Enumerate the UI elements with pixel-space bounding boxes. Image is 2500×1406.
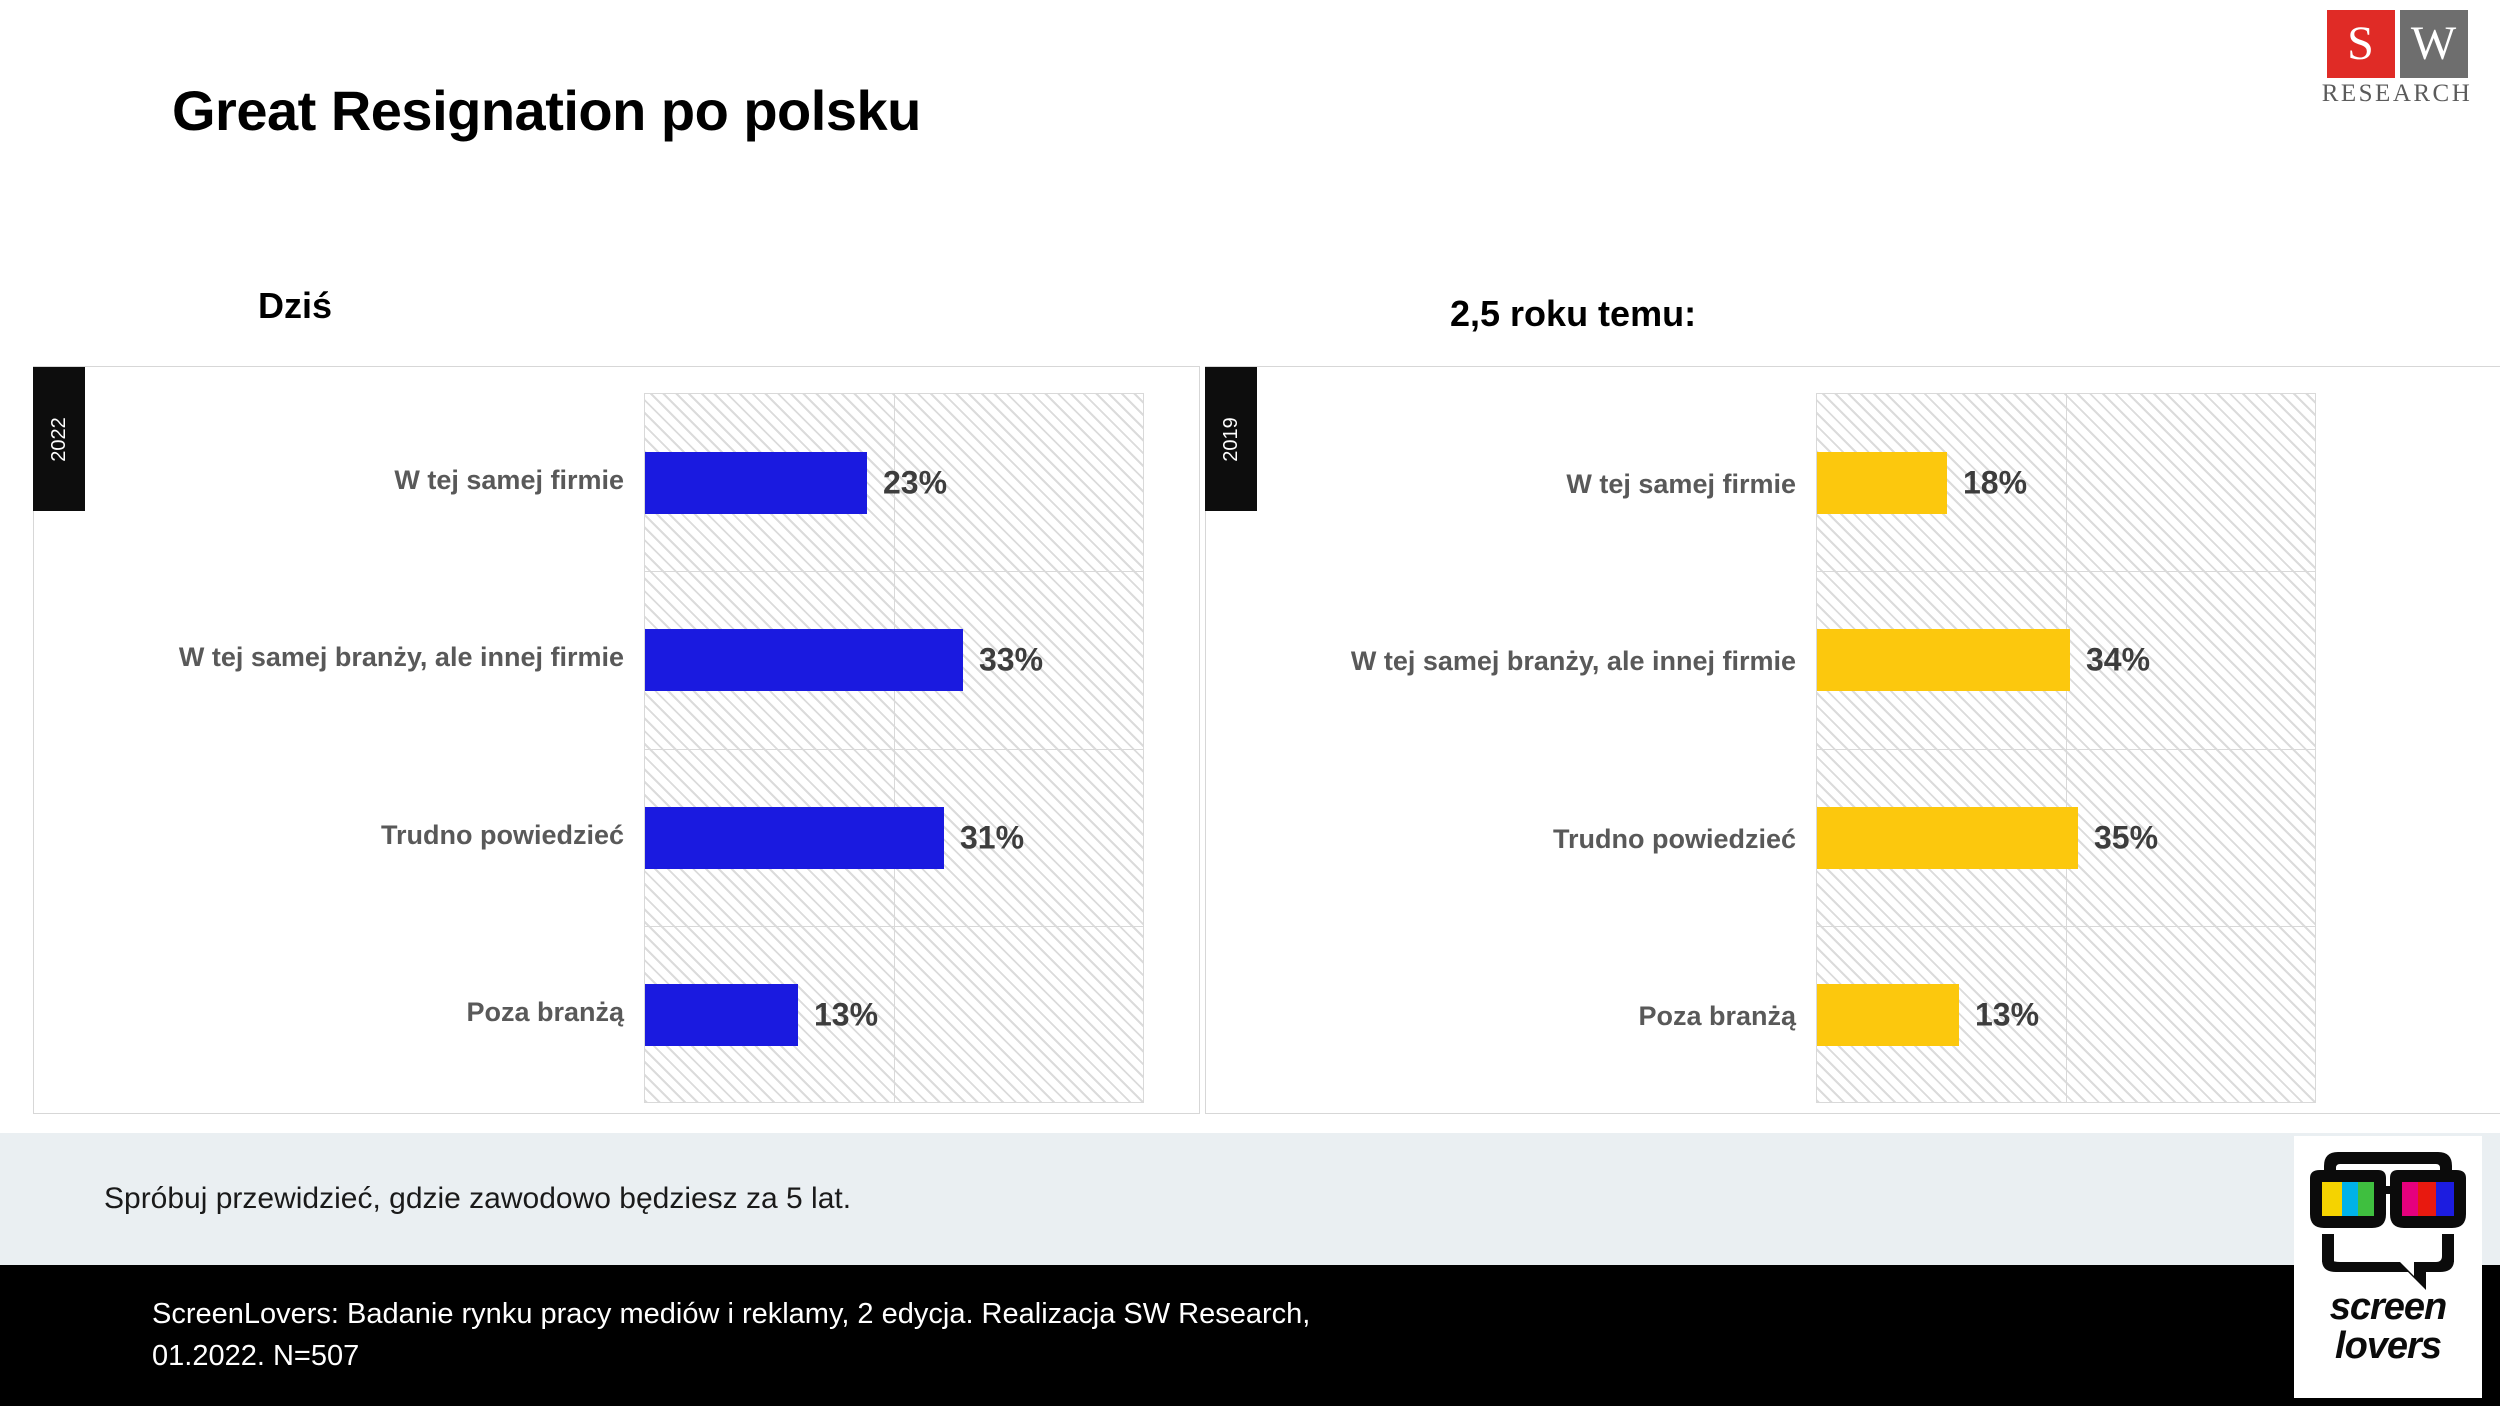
sw-logo-letter-s: S xyxy=(2327,10,2395,78)
year-tab-2022: 2022 xyxy=(33,367,85,511)
bar-value: 13% xyxy=(814,997,878,1034)
bar-2019-0 xyxy=(1817,452,1947,514)
plot-area-2022: 23% 33% 31% 13% xyxy=(644,393,1144,1103)
category-label: Poza branżą xyxy=(1266,1001,1796,1033)
bar-2022-3 xyxy=(645,984,798,1046)
footer-source-line1: ScreenLovers: Badanie rynku pracy mediów… xyxy=(152,1293,1310,1335)
screenlovers-glasses-icon xyxy=(2300,1142,2476,1292)
chart-heading-right: 2,5 roku temu: xyxy=(1450,293,1696,335)
bar-value: 34% xyxy=(2086,642,2150,679)
bar-row: 33% xyxy=(645,572,1143,750)
screenlovers-word-line2: lovers xyxy=(2294,1327,2482,1366)
page-title: Great Resignation po polsku xyxy=(172,78,921,143)
bar-value: 35% xyxy=(2094,819,2158,856)
bar-2022-2 xyxy=(645,807,944,869)
bar-2022-1 xyxy=(645,629,963,691)
bar-row: 13% xyxy=(645,927,1143,1105)
category-label: W tej samej branży, ale innej firmie xyxy=(1266,646,1796,678)
category-label: W tej samej branży, ale innej firmie xyxy=(94,642,624,674)
bar-2019-3 xyxy=(1817,984,1959,1046)
bar-value: 31% xyxy=(960,819,1024,856)
category-label: W tej samej firmie xyxy=(94,465,624,497)
bar-row: 35% xyxy=(1817,749,2315,927)
year-tab-2019: 2019 xyxy=(1205,367,1257,511)
category-label: Trudno powiedzieć xyxy=(94,820,624,852)
bar-2019-1 xyxy=(1817,629,2070,691)
category-label: W tej samej firmie xyxy=(1266,469,1796,501)
bar-row: 23% xyxy=(645,394,1143,572)
chart-panel-2022: 2022 W tej samej firmie W tej samej bran… xyxy=(33,366,1200,1114)
category-label: Trudno powiedzieć xyxy=(1266,824,1796,856)
footer-source-line2: 01.2022. N=507 xyxy=(152,1335,1310,1377)
slide: Great Resignation po polsku S W RESEARCH… xyxy=(0,0,2500,1406)
bar-value: 23% xyxy=(883,464,947,501)
chart-panel-2019: 2019 W tej samej firmie W tej samej bran… xyxy=(1205,366,2500,1114)
sw-logo-wordmark: RESEARCH xyxy=(2306,80,2488,108)
category-label: Poza branżą xyxy=(94,997,624,1029)
bar-row: 34% xyxy=(1817,572,2315,750)
plot-area-2019: 18% 34% 35% 13% xyxy=(1816,393,2316,1103)
bar-row: 18% xyxy=(1817,394,2315,572)
bar-2022-0 xyxy=(645,452,867,514)
sw-research-logo: S W RESEARCH xyxy=(2306,10,2488,108)
bar-value: 33% xyxy=(979,642,1043,679)
year-tab-2019-label: 2019 xyxy=(1220,417,1243,462)
bar-row: 13% xyxy=(1817,927,2315,1105)
bar-row: 31% xyxy=(645,749,1143,927)
year-tab-2022-label: 2022 xyxy=(48,417,71,462)
bar-2019-2 xyxy=(1817,807,2078,869)
note-band: Spróbuj przewidzieć, gdzie zawodowo będz… xyxy=(0,1133,2500,1265)
screenlovers-wordmark: screen lovers xyxy=(2294,1288,2482,1366)
bar-value: 18% xyxy=(1963,464,2027,501)
footer-source: ScreenLovers: Badanie rynku pracy mediów… xyxy=(152,1293,1310,1377)
sw-logo-letter-w: W xyxy=(2400,10,2468,78)
screenlovers-word-line1: screen xyxy=(2294,1288,2482,1327)
footer-band: ScreenLovers: Badanie rynku pracy mediów… xyxy=(0,1265,2500,1406)
screenlovers-logo: screen lovers xyxy=(2294,1136,2482,1398)
chart-heading-left: Dziś xyxy=(258,285,332,327)
sw-logo-squares: S W xyxy=(2306,10,2488,78)
bar-value: 13% xyxy=(1975,997,2039,1034)
note-text: Spróbuj przewidzieć, gdzie zawodowo będz… xyxy=(104,1182,851,1216)
